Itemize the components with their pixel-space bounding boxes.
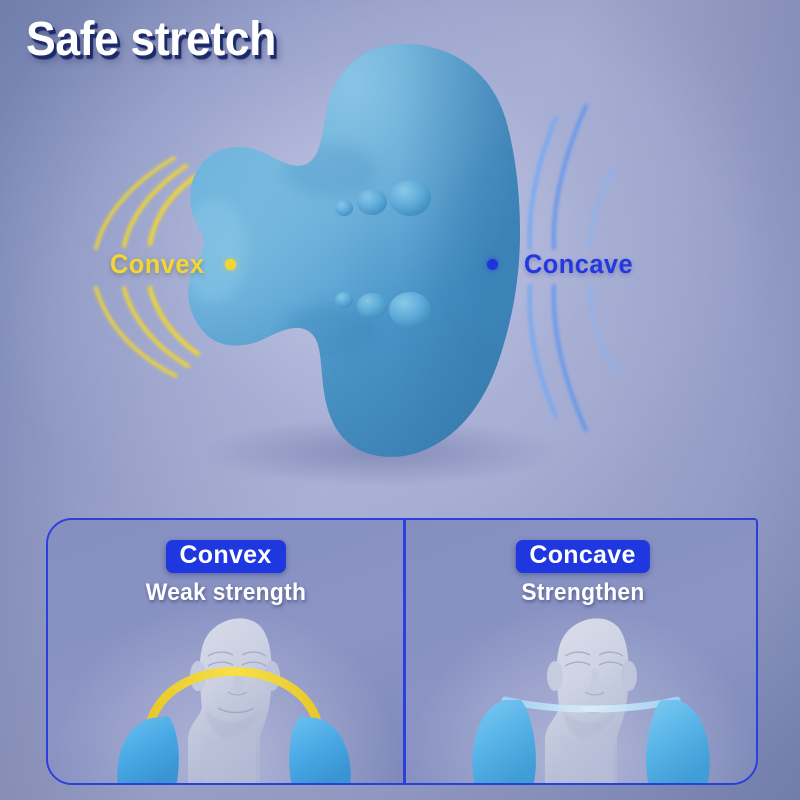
concave-arc bbox=[554, 106, 586, 248]
nub bbox=[389, 292, 431, 328]
nub bbox=[335, 200, 353, 216]
hero-label-concave: Concave bbox=[524, 251, 633, 278]
page-title: Safe stretch bbox=[26, 16, 276, 64]
pillow-wing-left bbox=[472, 700, 536, 783]
product-body bbox=[180, 30, 540, 470]
nub bbox=[335, 292, 353, 308]
convex-arc bbox=[124, 166, 186, 246]
badge-convex: Convex bbox=[165, 540, 285, 573]
convex-arc bbox=[96, 288, 176, 376]
pillow-wing-right bbox=[646, 700, 710, 783]
mannequin-figure-concave bbox=[545, 618, 637, 783]
badge-concave: Concave bbox=[515, 540, 649, 573]
concave-arc bbox=[590, 286, 614, 370]
pillow-wing-right bbox=[289, 716, 351, 783]
panel-art-convex bbox=[48, 608, 403, 783]
comparison-panel-convex: Convex Weak strength bbox=[48, 520, 403, 783]
concave-bullet-dot bbox=[487, 259, 498, 270]
pillow-wing-left bbox=[117, 716, 179, 783]
hero-label-convex: Convex bbox=[110, 251, 205, 278]
convex-arc bbox=[150, 176, 196, 244]
nub bbox=[357, 189, 387, 215]
concave-arc bbox=[590, 168, 614, 248]
nub bbox=[357, 293, 387, 319]
panel-divider bbox=[403, 520, 406, 783]
comparison-panel-concave: Concave Strengthen bbox=[405, 520, 758, 783]
convex-arc bbox=[96, 158, 174, 248]
panel-art-concave bbox=[405, 608, 758, 783]
mannequin-figure-convex bbox=[188, 618, 280, 783]
comparison-frame: Convex Weak strength bbox=[46, 518, 758, 785]
poster-canvas: Safe stretch bbox=[0, 0, 800, 800]
nub bbox=[389, 180, 431, 216]
subtitle-convex: Weak strength bbox=[145, 580, 305, 605]
convex-bullet-dot bbox=[225, 259, 236, 270]
concave-arc bbox=[554, 286, 586, 430]
subtitle-concave: Strengthen bbox=[521, 580, 644, 605]
